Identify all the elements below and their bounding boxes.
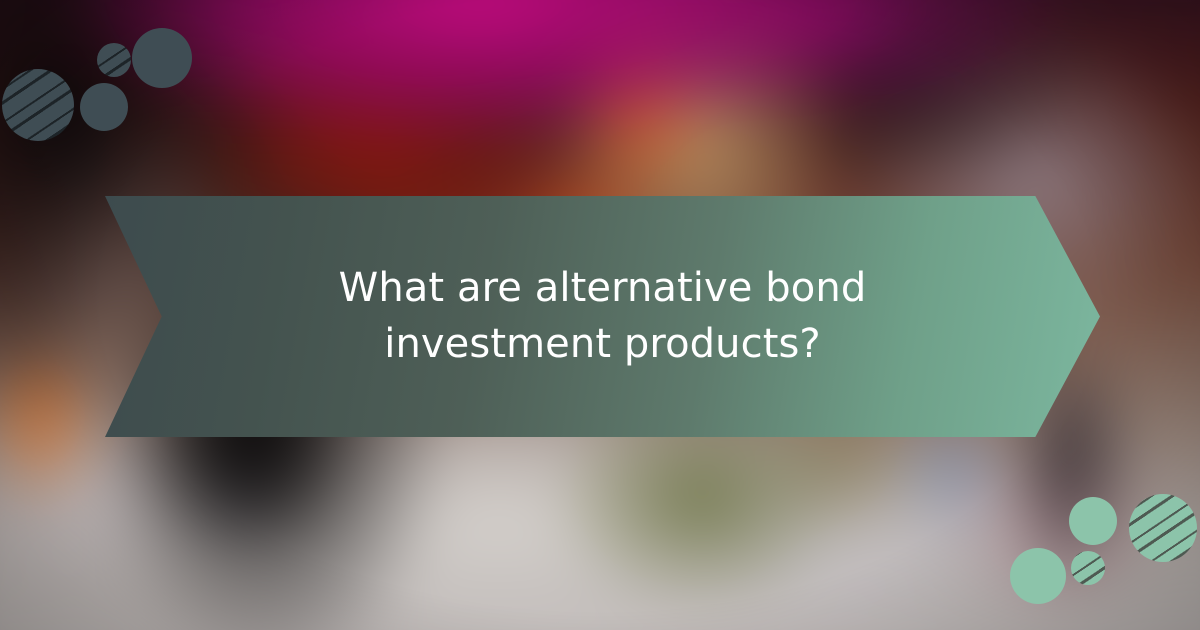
small-striped-circle xyxy=(97,43,131,77)
banner-shape: What are alternative bond investment pro… xyxy=(105,196,1100,437)
medium-solid-circle xyxy=(1069,497,1117,545)
title-banner: What are alternative bond investment pro… xyxy=(105,196,1100,437)
lower-solid-circle xyxy=(1010,548,1066,604)
medium-solid-circle xyxy=(80,83,128,131)
small-striped-circle xyxy=(1071,551,1105,585)
large-striped-circle xyxy=(2,69,74,141)
social-card-canvas: What are alternative bond investment pro… xyxy=(0,0,1200,630)
large-solid-circle xyxy=(132,28,192,88)
banner-title-text: What are alternative bond investment pro… xyxy=(273,261,933,371)
large-striped-circle xyxy=(1129,494,1197,562)
